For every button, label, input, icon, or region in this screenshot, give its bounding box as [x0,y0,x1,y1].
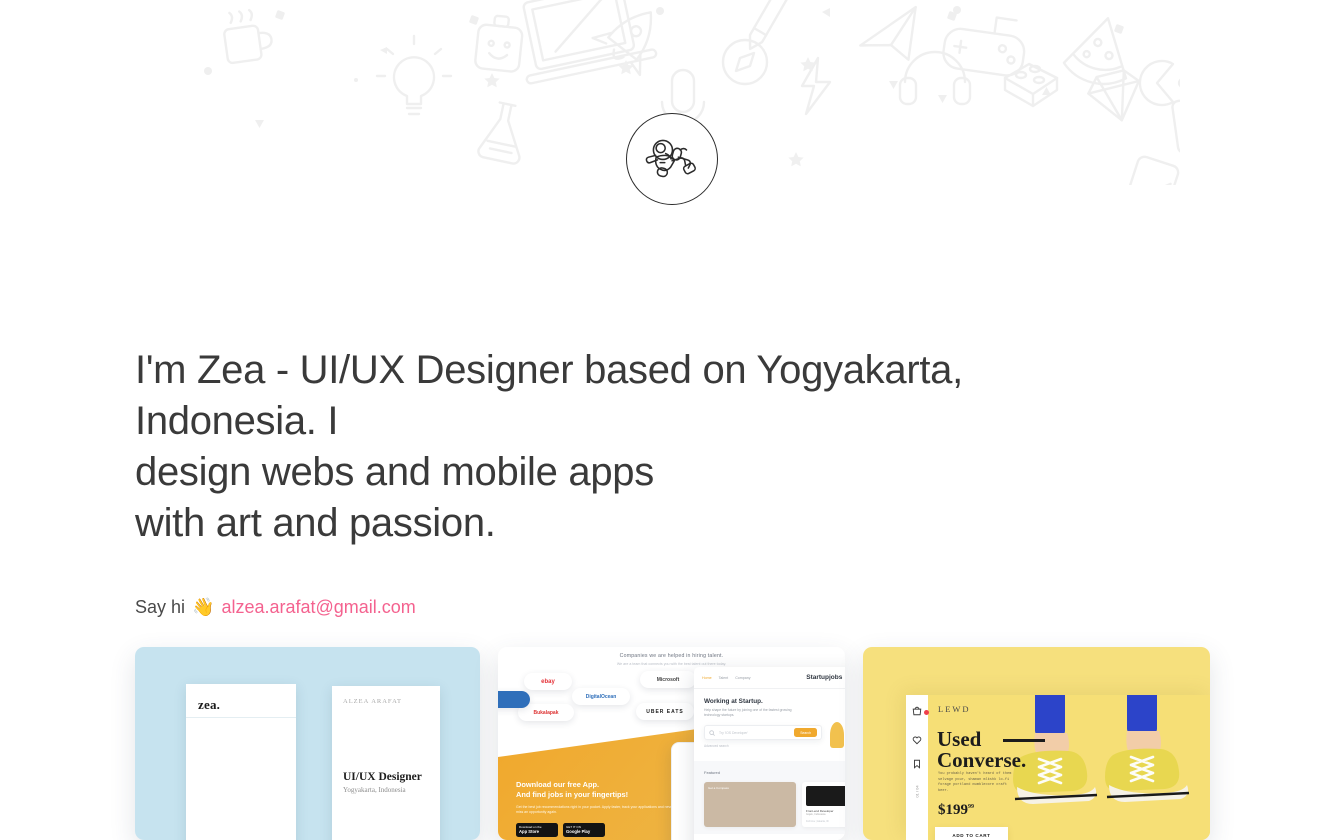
logo-bukalapak: Bukalapak [518,704,574,721]
shop-brand: LEWD [938,704,971,714]
browser-hero: Working at Startup. Help shape the futur… [694,689,845,757]
lego-brick-icon [1005,64,1057,106]
featured-section: Featured See more Get a Compass Front-en… [694,761,845,834]
site-nav: Home Talent Company Startupjobs Sign in … [694,667,845,689]
project-card-converse[interactable]: 01 / 04 LEWD Used Converse. You probably… [863,647,1210,840]
card-owner-role: UI/UX Designer [343,771,422,783]
page-title: I'm Zea - UI/UX Designer based on Yogyak… [135,345,1125,549]
gamepad-icon [941,11,1028,78]
job-search-button[interactable]: Search [794,728,817,737]
site-brand: Startupjobs [806,674,842,681]
featured-tiles: Get a Compass Front-end Developer Gojek,… [704,782,845,827]
featured-header: Featured See more [704,768,845,777]
title-rule [1003,739,1045,742]
add-to-cart-button[interactable]: ADD TO CART [935,827,1008,840]
astronaut-icon [643,130,701,188]
nav-talent[interactable]: Talent [719,676,729,680]
logo-microsoft: Microsoft [640,671,696,688]
featured-tile-2[interactable]: Front-end Developer Gojek, Indonesia Ful… [802,782,845,827]
say-hi-label: Say hi [135,594,185,620]
card-owner-location: Yogyakarta, Indonesia [343,786,406,794]
jobs-hero-heading: Companies we are helped in hiring talent… [498,653,845,659]
headline-line-3: with art and passion. [135,498,1125,549]
jobs-hero-sub: We are a team that connects you with the… [498,662,845,666]
browser-footer: Latest Jobs Popular Jobs [694,834,845,840]
logo-ebay: ebay [524,673,572,690]
business-card-back: ALZEA ARAFAT UI/UX Designer Yogyakarta, … [332,686,440,840]
nav-home[interactable]: Home [702,676,712,680]
search-icon [709,730,715,736]
job-search-bar[interactable]: Try 'iOS Developer' Search [704,725,822,740]
pizza-icon [1061,10,1139,90]
laptop-icon [511,0,657,84]
compass-icon [723,40,767,84]
browser-hero-title: Working at Startup. [704,698,822,705]
product-title-line-2: Converse. [937,748,1026,772]
product-description: You probably haven't heard of them selva… [938,772,1016,794]
hero-content: I'm Zea - UI/UX Designer based on Yogyak… [135,345,1145,620]
headphones-icon [900,52,970,104]
business-card-front: zea. [186,684,296,840]
advanced-search-link[interactable]: Advanced search [704,744,822,748]
rocket-icon [591,0,674,76]
product-price: $19999 [938,802,974,819]
heart-icon[interactable] [912,735,922,745]
card-divider [186,717,296,718]
contact-line: Say hi 👋 alzea.arafat@gmail.com [135,594,1145,620]
browser-mockup: Home Talent Company Startupjobs Sign in … [694,667,845,840]
square-icon [275,10,1124,34]
lightning-icon [802,58,830,114]
pacman-icon [1140,61,1180,105]
logo-circle [626,113,718,205]
google-play-badge[interactable]: GET IT ON Google Play [563,823,605,837]
featured-label: Featured [704,770,720,775]
email-link[interactable]: alzea.arafat@gmail.com [221,594,415,620]
coffee-mug-icon [221,8,274,64]
logo-pill-accent [498,691,530,708]
paper-plane-icon [855,7,926,69]
store-badges: Download on the App Store GET IT ON Goog… [516,823,676,837]
browser-hero-sub: Help shape the future by joining one of … [704,708,804,718]
job-search-placeholder: Try 'iOS Developer' [719,731,790,735]
app-promo-title-2: And find jobs in your fingertips! [516,790,676,800]
brand-mark: zea. [198,697,220,713]
pencil-icon [744,0,788,52]
logo-ubereats: UBER EATS [636,703,694,720]
lego-head-icon [475,14,524,72]
cart-count-dot [924,710,929,715]
side-rail: 01 / 04 [906,695,928,840]
project-card-branding[interactable]: zea. ALZEA ARAFAT UI/UX Designer Yogyaka… [135,647,480,840]
lightbulb-icon [377,36,451,114]
pagination-indicator: 01 / 04 [915,785,920,797]
featured-tile-1[interactable]: Get a Compass [704,782,796,827]
people-illustration [830,698,845,748]
bookmark-icon[interactable] [912,759,922,769]
project-card-startupjobs[interactable]: Companies we are helped in hiring talent… [498,647,845,840]
logo-digitalocean: DigitalOcean [572,688,630,705]
card-owner-name: ALZEA ARAFAT [343,698,402,705]
headline-line-1: I'm Zea - UI/UX Designer based on Yogyak… [135,348,963,443]
person-1 [830,722,844,748]
project-cards: zea. ALZEA ARAFAT UI/UX Designer Yogyaka… [135,647,1210,840]
sneakers-photo [995,695,1210,840]
app-store-badge[interactable]: Download on the App Store [516,823,558,837]
app-promo-text: Download our free App. And find jobs in … [516,780,676,837]
app-promo-title-1: Download our free App. [516,780,676,790]
shopping-bag-icon[interactable] [912,703,922,721]
triangle-icon [255,8,1051,128]
app-promo-desc: Get the best job recommendations right i… [516,805,676,815]
waving-hand-icon: 👋 [192,598,214,616]
converse-shoes-illustration [995,695,1210,840]
nav-company[interactable]: Company [735,676,750,680]
site-logo[interactable] [0,113,1344,205]
product-title: Used Converse. [937,729,1026,771]
headline-line-2: design webs and mobile apps [135,447,1125,498]
